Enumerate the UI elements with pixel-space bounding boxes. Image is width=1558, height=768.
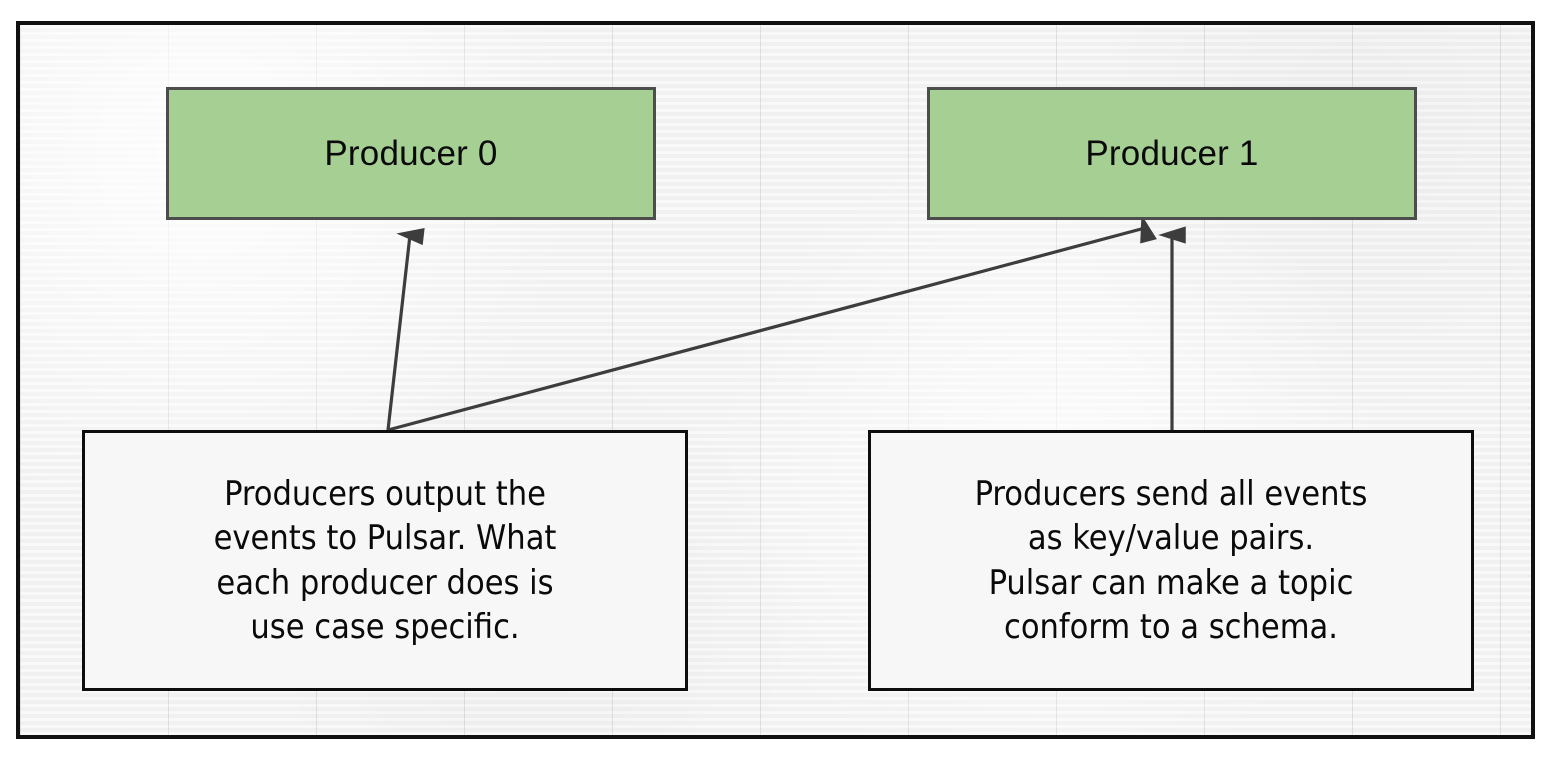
producer-0-node[interactable]: Producer 0	[166, 87, 656, 220]
diagram-frame: Producer 0 Producer 1 Producers output t…	[16, 21, 1535, 739]
note-left-text: Producers output the events to Pulsar. W…	[214, 472, 557, 649]
note-left[interactable]: Producers output the events to Pulsar. W…	[82, 430, 688, 691]
note-right-text: Producers send all events as key/value p…	[975, 472, 1368, 649]
producer-1-label: Producer 1	[1085, 136, 1258, 171]
producer-0-label: Producer 0	[324, 136, 497, 171]
note-right[interactable]: Producers send all events as key/value p…	[868, 430, 1474, 691]
connector-note-left-to-producer-0	[388, 235, 410, 430]
producer-1-node[interactable]: Producer 1	[927, 87, 1417, 220]
diagram-canvas: Producer 0 Producer 1 Producers output t…	[0, 0, 1558, 768]
connector-note-left-to-producer-1	[388, 228, 1145, 430]
